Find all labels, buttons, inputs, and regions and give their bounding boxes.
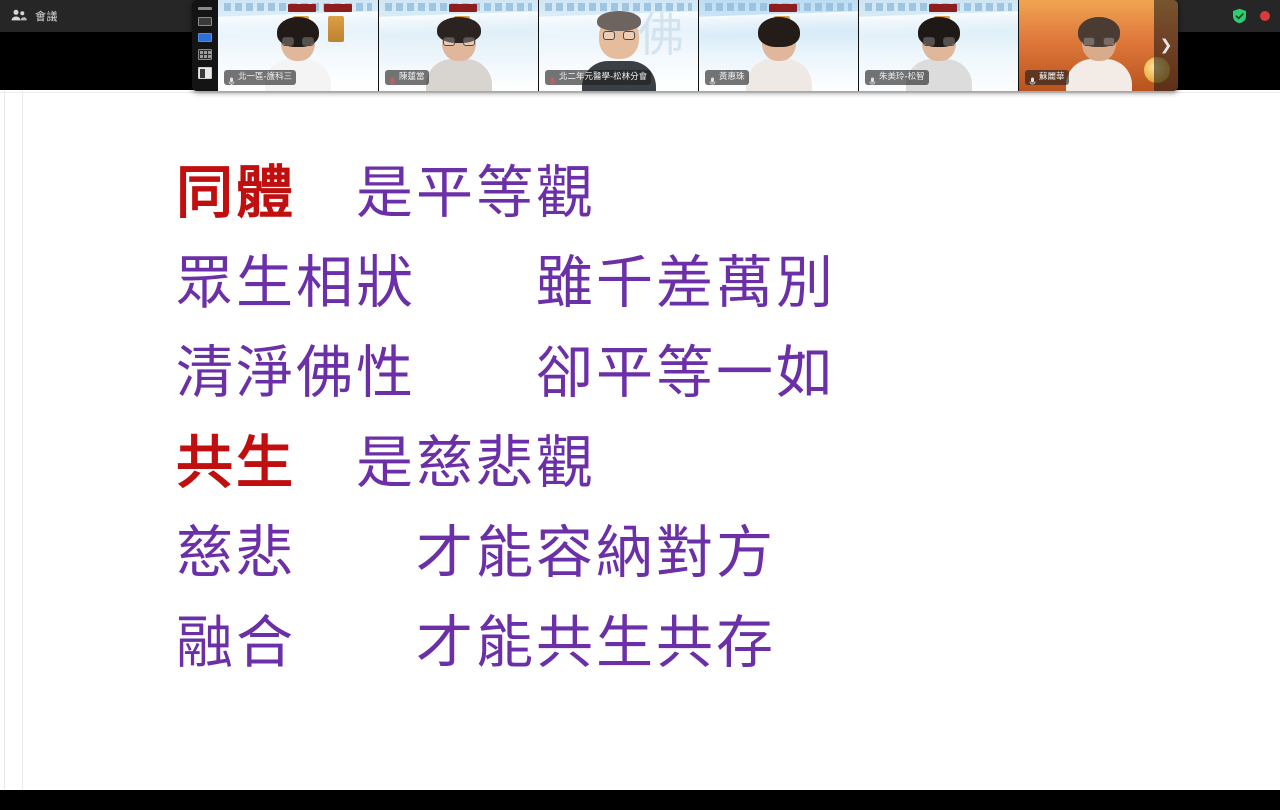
- slide-line-text: 清淨佛性 卻平等一如: [176, 340, 836, 406]
- participant-name-tag: 黃惠珠: [705, 70, 749, 85]
- letterbox-bottom: [0, 790, 1280, 810]
- slide-line-text: 慈悲 才能容納對方: [176, 520, 776, 586]
- participant-video-image: [1064, 17, 1134, 91]
- participant-name: 朱美玲-松智: [879, 73, 925, 82]
- participant-name-tag: 陳蓮當: [385, 70, 429, 85]
- slide-line-text: 是慈悲觀: [356, 430, 596, 496]
- view-mode-controls: [192, 0, 218, 91]
- tile-backdrop-tag: [288, 4, 316, 12]
- slide-line: 清淨佛性 卻平等一如: [176, 328, 1176, 418]
- participant-name: 北二年元醫學-松林分會: [559, 73, 647, 82]
- mic-muted-icon: [1029, 73, 1036, 82]
- participant-name-tag: 北二年元醫學-松林分會: [545, 70, 651, 85]
- tile-backdrop-tag: [929, 4, 957, 12]
- participant-name-tag: 北一區-護科三: [224, 70, 296, 85]
- tile-backdrop-tag: [449, 4, 477, 12]
- slide-top-divider: [0, 92, 1280, 93]
- mic-muted-icon: [549, 73, 556, 82]
- tile-backdrop-tag: [324, 4, 352, 12]
- video-tile[interactable]: 黃惠珠: [698, 0, 858, 91]
- meeting-info-group[interactable]: 會議: [0, 0, 58, 32]
- video-tile[interactable]: 佛 北二年元醫學-松林分會: [538, 0, 698, 91]
- speaker-view-icon[interactable]: [198, 17, 212, 26]
- meeting-title: 會議: [35, 8, 58, 24]
- participants-icon: [10, 7, 28, 25]
- mic-muted-icon: [228, 73, 235, 82]
- participant-name: 蘇麗華: [1039, 73, 1065, 82]
- participant-video-image: [424, 17, 494, 91]
- slide-line: 融合 才能共生共存: [176, 598, 1176, 688]
- participant-filmstrip: 北一區-護科三 陳蓮當: [192, 0, 1178, 91]
- grid-view-icon[interactable]: [198, 49, 212, 60]
- video-tile-list: 北一區-護科三 陳蓮當: [218, 0, 1178, 91]
- thumbnail-icon[interactable]: [198, 67, 212, 79]
- participant-name: 黃惠珠: [719, 73, 745, 82]
- slide-line-keyword: 共生: [176, 429, 296, 496]
- chevron-right-icon: ❯: [1160, 38, 1173, 53]
- tile-backdrop-tag: [769, 4, 797, 12]
- slide-line: 共生 是慈悲觀: [176, 418, 1176, 508]
- next-participants-button[interactable]: ❯: [1154, 0, 1178, 91]
- participant-name: 陳蓮當: [399, 73, 425, 82]
- slide-left-inner-edge: [22, 90, 23, 790]
- mic-muted-icon: [389, 73, 396, 82]
- participant-name-tag: 朱美玲-松智: [865, 70, 929, 85]
- video-tile[interactable]: 北一區-護科三: [218, 0, 378, 91]
- slide-line: 同體 是平等觀: [176, 148, 1176, 238]
- participant-video-image: [744, 17, 814, 91]
- recording-dot-icon[interactable]: [1260, 11, 1270, 21]
- slide-line-text: 融合 才能共生共存: [176, 610, 776, 676]
- top-bar-status-group: [1232, 0, 1270, 32]
- slide-line-text: 眾生相狀 雖千差萬別: [176, 250, 836, 316]
- video-tile[interactable]: 陳蓮當: [378, 0, 538, 91]
- slide-line: 眾生相狀 雖千差萬別: [176, 238, 1176, 328]
- slide-line-gap: [296, 430, 356, 496]
- participant-name: 北一區-護科三: [238, 73, 292, 82]
- shared-screen-content: 同體 是平等觀 眾生相狀 雖千差萬別 清淨佛性 卻平等一如 共生 是慈悲觀 慈悲…: [0, 90, 1280, 790]
- strip-view-icon[interactable]: [198, 33, 212, 42]
- minimize-icon[interactable]: [198, 7, 212, 10]
- slide-left-edge: [4, 90, 5, 790]
- slide-line-keyword: 同體: [176, 159, 296, 226]
- mic-muted-icon: [709, 73, 716, 82]
- mic-muted-icon: [869, 73, 876, 82]
- slide-line: 慈悲 才能容納對方: [176, 508, 1176, 598]
- slide-line-gap: [296, 160, 356, 226]
- slide-line-text: 是平等觀: [356, 160, 596, 226]
- zoom-meeting-window: 會議 同體 是平等觀 眾生相狀 雖千差萬別 清淨佛性 卻平等一如 共生 是慈悲觀…: [0, 0, 1280, 810]
- participant-name-tag: 蘇麗華: [1025, 70, 1069, 85]
- shield-check-icon[interactable]: [1232, 8, 1247, 24]
- slide-text-block: 同體 是平等觀 眾生相狀 雖千差萬別 清淨佛性 卻平等一如 共生 是慈悲觀 慈悲…: [176, 148, 1176, 688]
- video-tile-active-speaker[interactable]: 朱美玲-松智: [858, 0, 1018, 91]
